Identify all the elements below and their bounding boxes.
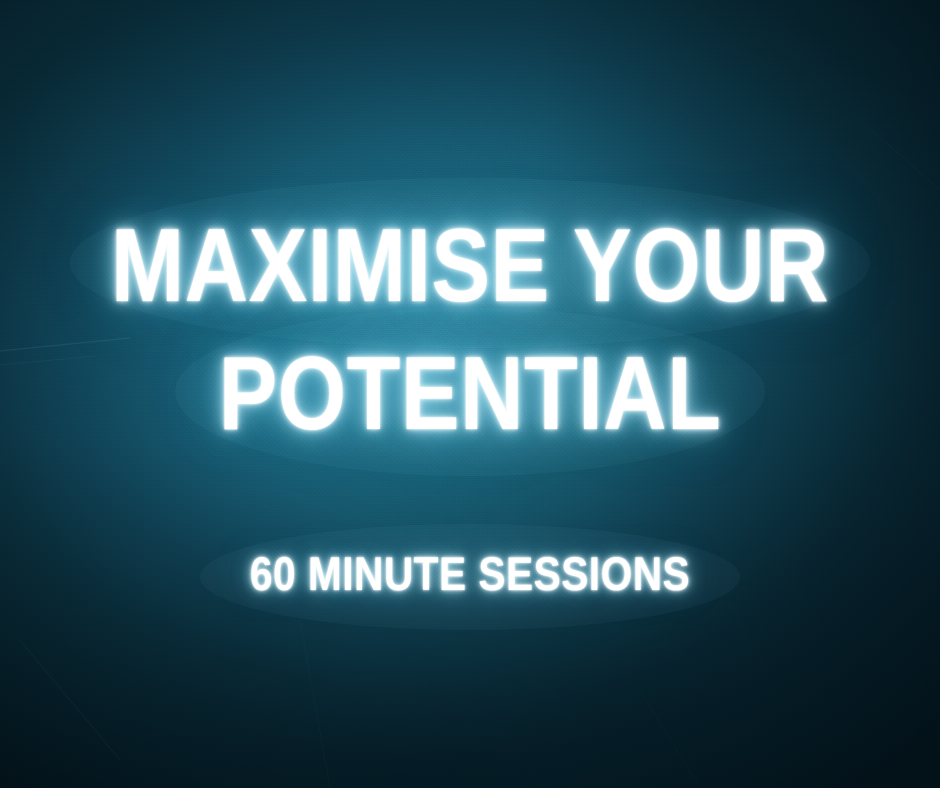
subheadline: 60 MINUTE SESSIONS [63, 550, 876, 597]
headline-line-1: MAXIMISE YOUR [73, 214, 867, 318]
headline-line-2: POTENTIAL [73, 342, 867, 446]
poster-content: MAXIMISE YOUR POTENTIAL 60 MINUTE SESSIO… [0, 0, 940, 788]
promo-poster: MAXIMISE YOUR POTENTIAL 60 MINUTE SESSIO… [0, 0, 940, 788]
